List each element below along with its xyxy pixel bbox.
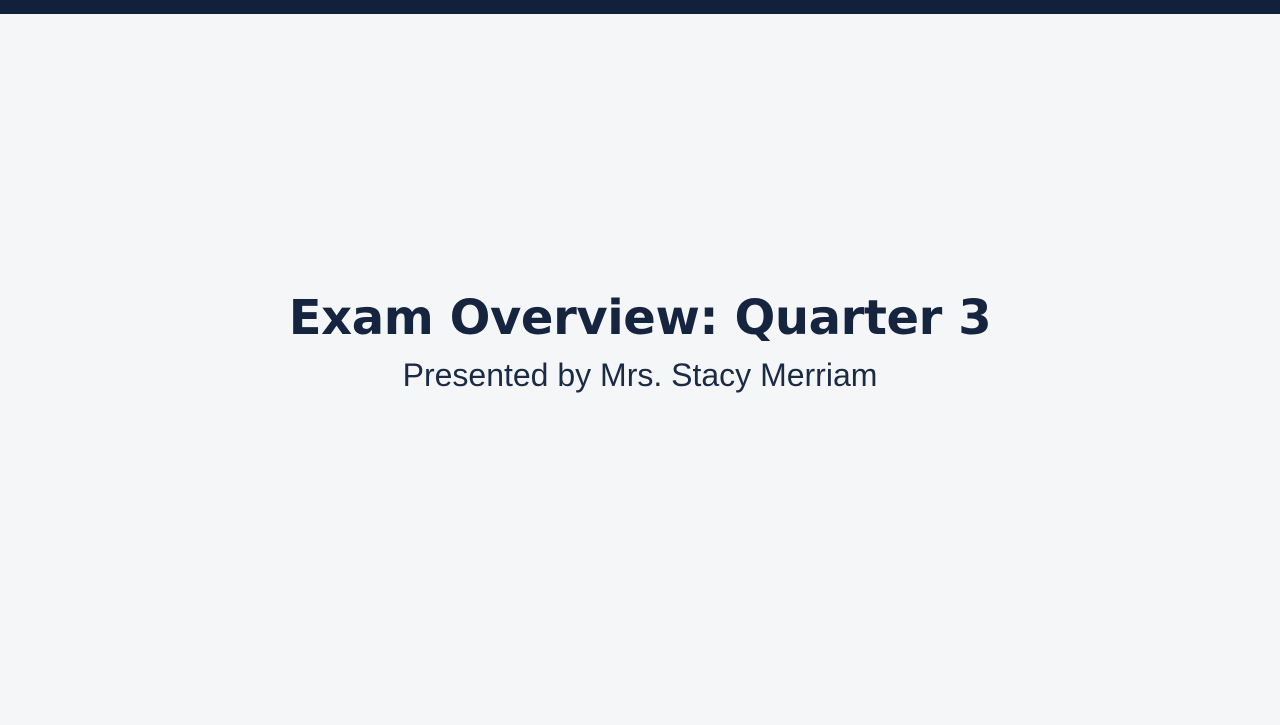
presentation-window: Exam Overview: Quarter 3 Presented by Mr… (0, 0, 1280, 725)
slide-subtitle: Presented by Mrs. Stacy Merriam (403, 356, 878, 394)
slide-canvas: Exam Overview: Quarter 3 Presented by Mr… (0, 14, 1280, 725)
top-chrome-bar (0, 0, 1280, 14)
slide-title: Exam Overview: Quarter 3 (289, 292, 991, 346)
slide-title-block: Exam Overview: Quarter 3 Presented by Mr… (0, 14, 1280, 725)
